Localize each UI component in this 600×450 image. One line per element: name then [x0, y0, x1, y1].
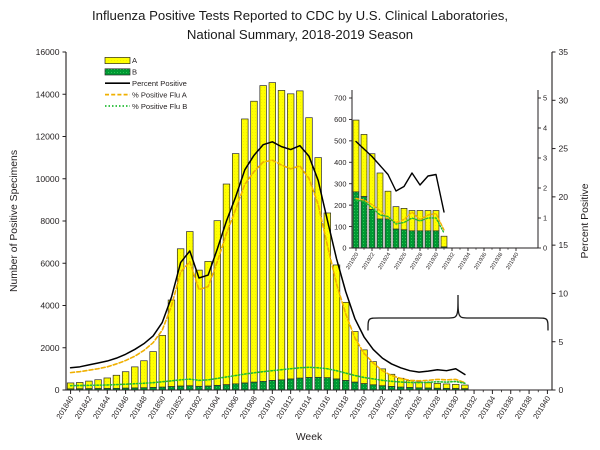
inset-y-right-tick-label: 0	[543, 244, 547, 253]
inset-y-left-tick-label: 300	[334, 179, 346, 188]
inset-bar-flu-b	[425, 231, 431, 248]
bar-flu-b	[333, 379, 340, 390]
bar-flu-a	[278, 90, 285, 379]
inset-y-left-tick-label: 400	[334, 158, 346, 167]
bar-flu-a	[434, 383, 441, 388]
bar-flu-b	[186, 386, 193, 390]
bar-flu-b	[196, 386, 203, 390]
inset-x-tick-label: 201934	[457, 252, 472, 271]
legend-label: Percent Positive	[132, 79, 187, 88]
inset-x-tick-label: 201924	[377, 252, 392, 271]
inset-x-tick-label: 201922	[361, 252, 376, 271]
inset-y-left-tick-label: 700	[334, 94, 346, 103]
bar-flu-b	[205, 386, 212, 390]
y-left-tick-label: 6000	[40, 258, 59, 268]
bar-flu-a	[260, 86, 267, 382]
y-left-tick-label: 0	[55, 385, 60, 395]
inset-bar-flu-b	[393, 229, 399, 248]
inset-y-right-tick-label: 3	[543, 154, 547, 163]
inset-bar-flu-a	[425, 211, 431, 231]
inset-group	[349, 90, 541, 251]
bar-flu-b	[177, 386, 184, 390]
inset-bar-flu-b	[361, 197, 367, 248]
bar-flu-b	[242, 383, 249, 390]
legend-label: % Positive Flu A	[132, 90, 188, 99]
inset-y-left-tick-label: 100	[334, 222, 346, 231]
bar-flu-b	[251, 382, 258, 390]
y-right-tick-label: 30	[559, 95, 569, 105]
bar-flu-a	[425, 383, 432, 388]
bar-flu-b	[370, 385, 377, 390]
bar-flu-a	[287, 94, 294, 379]
y-left-tick-label: 2000	[40, 343, 59, 353]
y-left-tick-label: 14000	[36, 89, 60, 99]
bar-flu-b	[214, 385, 221, 390]
inset-x-tick-label: 201938	[489, 252, 504, 271]
inset-y-left-tick-label: 200	[334, 201, 346, 210]
inset-bar-flu-a	[385, 191, 391, 219]
y-right-tick-label: 20	[559, 192, 569, 202]
bar-flu-a	[407, 381, 414, 388]
inset-y-left-tick-label: 500	[334, 137, 346, 146]
y-left-tick-label: 10000	[36, 174, 60, 184]
bar-flu-a	[462, 385, 469, 389]
x-axis-title: Week	[296, 432, 323, 443]
y-right-tick-label: 5	[559, 337, 564, 347]
legend-group	[105, 57, 130, 106]
y-right-axis-title: Percent Positive	[580, 183, 591, 258]
bar-flu-b	[278, 380, 285, 390]
inset-y-left-tick-label: 0	[342, 244, 346, 253]
inset-bar-flu-a	[369, 154, 375, 210]
bar-flu-b	[287, 379, 294, 390]
main-bars-group	[67, 83, 468, 390]
bar-flu-a	[113, 375, 120, 388]
inset-bar-flu-b	[369, 209, 375, 248]
bar-flu-a	[452, 384, 459, 388]
inset-bar-flu-b	[433, 231, 439, 248]
inset-x-tick-label: 201928	[409, 252, 424, 271]
legend-swatch-b	[105, 69, 130, 75]
y-left-axis-title: Number of Positive Specimens	[9, 150, 20, 292]
bar-flu-b	[306, 378, 313, 390]
bar-flu-a	[214, 221, 221, 386]
legend-label: B	[132, 68, 137, 77]
bar-flu-a	[443, 384, 450, 388]
bar-flu-b	[361, 384, 368, 390]
bar-flu-a	[95, 380, 102, 389]
inset-bar-flu-b	[417, 231, 423, 248]
bar-flu-a	[104, 378, 111, 389]
legend-label: % Positive Flu B	[132, 102, 187, 111]
bar-flu-a	[122, 372, 129, 388]
y-right-tick-label: 35	[559, 47, 569, 57]
bar-flu-a	[269, 83, 276, 381]
y-left-tick-label: 4000	[40, 301, 59, 311]
inset-y-right-tick-label: 2	[543, 184, 547, 193]
y-right-tick-label: 15	[559, 240, 569, 250]
inset-bar-flu-b	[377, 219, 383, 248]
bar-flu-a	[297, 91, 304, 378]
bar-flu-b	[342, 380, 349, 390]
inset-bar-flu-a	[441, 236, 447, 247]
legend-label: A	[132, 56, 138, 65]
y-right-tick-label: 25	[559, 144, 569, 154]
bar-flu-b	[297, 378, 304, 390]
bar-flu-b	[315, 377, 322, 390]
inset-x-tick-label: 201926	[393, 252, 408, 271]
y-left-tick-label: 8000	[40, 216, 59, 226]
inset-y-right-tick-label: 1	[543, 214, 547, 223]
inset-y-right-tick-label: 4	[543, 124, 547, 133]
main-lines-group	[71, 142, 465, 386]
y-left-tick-label: 12000	[36, 132, 60, 142]
inset-x-tick-label: 201930	[425, 252, 440, 271]
inset-bar-flu-b	[409, 231, 415, 248]
x-tick-label: 201940	[531, 394, 552, 420]
inset-bar-flu-b	[401, 230, 407, 248]
inset-y-left-tick-label: 600	[334, 115, 346, 124]
figure-svg: 0200040006000800010000120001400016000051…	[0, 0, 600, 450]
inset-x-tick-label: 201936	[473, 252, 488, 271]
bar-flu-b	[379, 386, 386, 390]
bar-flu-b	[269, 380, 276, 390]
inset-y-right-tick-label: 5	[543, 94, 547, 103]
inset-connector-brace	[368, 295, 548, 330]
inset-x-tick-label: 201920	[345, 252, 360, 271]
inset-bar-flu-b	[385, 219, 391, 248]
chart-root: Influenza Positive Tests Reported to CDC…	[0, 0, 600, 450]
bar-flu-a	[159, 335, 166, 387]
bar-flu-b	[232, 384, 239, 390]
bar-flu-b	[223, 385, 230, 390]
legend-swatch-a	[105, 57, 130, 63]
bar-flu-b	[260, 381, 267, 390]
inset-bar-flu-a	[393, 207, 399, 230]
inset-bar-flu-a	[361, 134, 367, 196]
inset-x-tick-label: 201932	[441, 252, 456, 271]
inset-x-tick-label: 201940	[505, 252, 520, 271]
inset-bar-flu-a	[353, 120, 359, 192]
y-left-tick-label: 16000	[36, 47, 60, 57]
y-right-tick-label: 10	[559, 289, 569, 299]
bar-flu-a	[242, 119, 249, 383]
y-right-tick-label: 0	[559, 385, 564, 395]
bar-flu-a	[251, 101, 258, 382]
bar-flu-b	[352, 382, 359, 390]
line-pct-flu-a	[71, 160, 465, 383]
bar-flu-a	[131, 367, 138, 388]
bar-flu-b	[324, 378, 331, 390]
